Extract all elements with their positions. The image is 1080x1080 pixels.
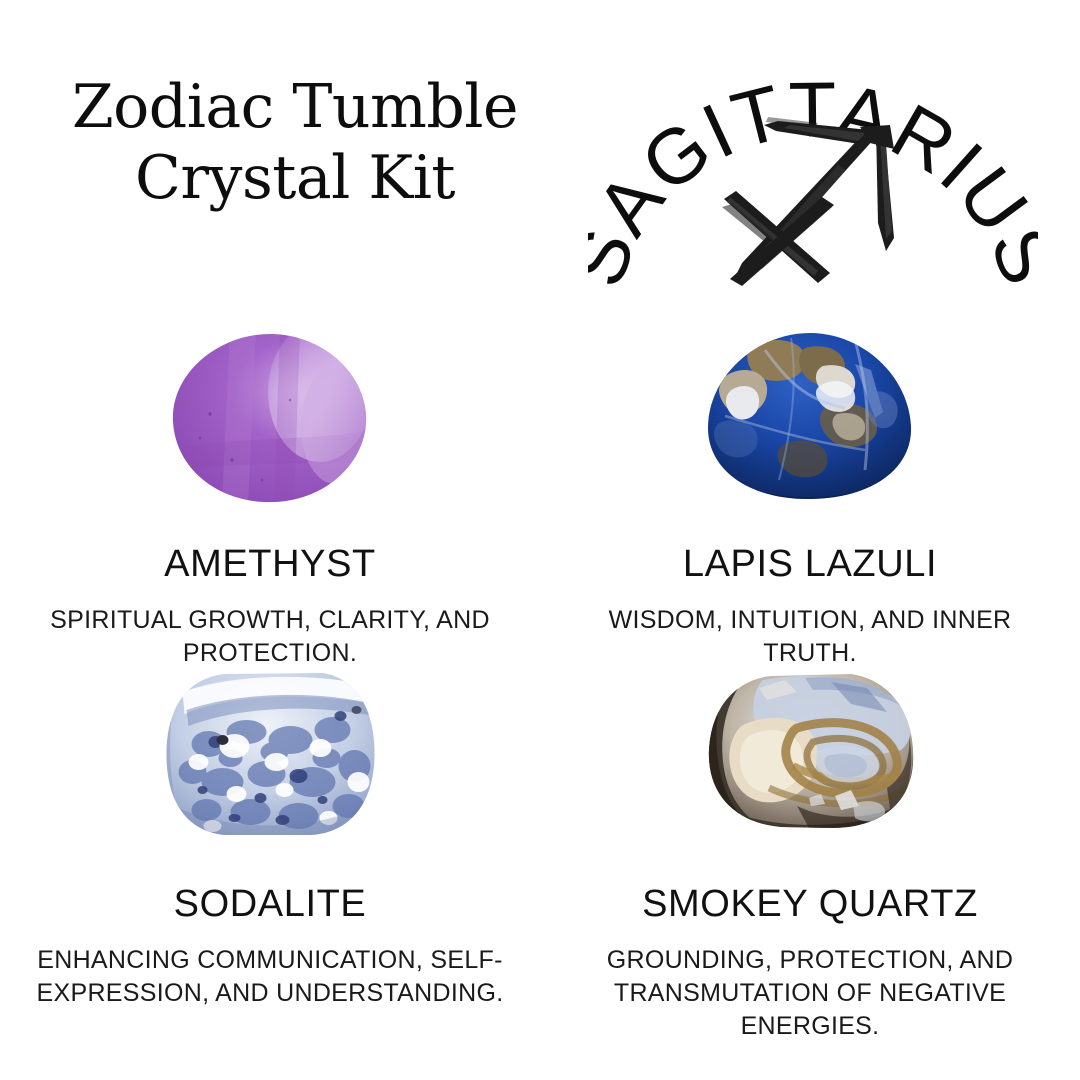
zodiac-badge: SAGITTARIUS [588,8,1038,308]
stone-name: AMETHYST [0,544,540,586]
sodalite-stone-icon [163,670,378,838]
stone-description: GROUNDING, PROTECTION, AND TRANSMUTATION… [575,944,1045,1043]
page-title: Zodiac Tumble Crystal Kit [30,72,560,214]
stone-description: ENHANCING COMMUNICATION, SELF-EXPRESSION… [35,944,505,1010]
lapis-lazuli-image-wrap [540,330,1080,530]
crystal-card-sodalite: SODALITE ENHANCING COMMUNICATION, SELF-E… [0,670,540,1010]
smokey-quartz-stone-icon [701,670,919,832]
page-title-line-2: Crystal Kit [30,143,560,214]
stone-name: SODALITE [0,884,540,926]
stone-description: WISDOM, INTUITION, AND INNER TRUTH. [575,604,1045,670]
stone-description: SPIRITUAL GROWTH, CLARITY, AND PROTECTIO… [35,604,505,670]
stone-name: LAPIS LAZULI [540,544,1080,586]
amethyst-stone-icon [170,330,370,505]
crystal-card-lapis-lazuli: LAPIS LAZULI WISDOM, INTUITION, AND INNE… [540,330,1080,670]
crystal-card-smokey-quartz: SMOKEY QUARTZ GROUNDING, PROTECTION, AND… [540,670,1080,1043]
stone-name: SMOKEY QUARTZ [540,884,1080,926]
smokey-quartz-image-wrap [540,670,1080,870]
sagittarius-arrow-glyph [718,103,918,288]
page-title-line-1: Zodiac Tumble [72,72,518,142]
crystal-card-amethyst: AMETHYST SPIRITUAL GROWTH, CLARITY, AND … [0,330,540,670]
poster-canvas: Zodiac Tumble Crystal Kit SAGITTARIUS [0,0,1080,1080]
sodalite-image-wrap [0,670,540,870]
header: Zodiac Tumble Crystal Kit SAGITTARIUS [0,0,1080,320]
lapis-lazuli-stone-icon [705,330,915,502]
amethyst-image-wrap [0,330,540,530]
crystal-grid: AMETHYST SPIRITUAL GROWTH, CLARITY, AND … [0,330,1080,1080]
